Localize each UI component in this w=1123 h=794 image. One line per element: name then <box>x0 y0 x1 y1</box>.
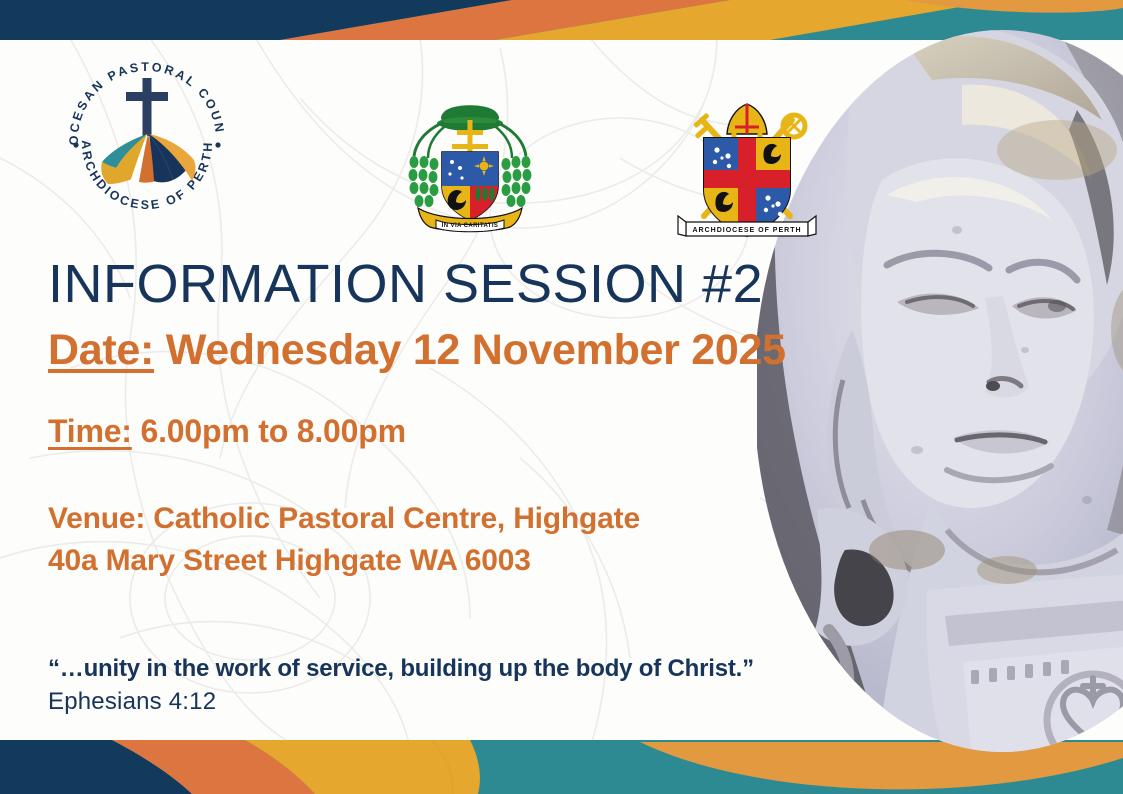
venue-block: Venue: Catholic Pastoral Centre, Highgat… <box>48 498 788 583</box>
date-value: Wednesday 12 November 2025 <box>166 326 786 374</box>
date-label: Date: <box>48 326 154 374</box>
archdiocese-of-perth-coat-of-arms: ARCHDIOCESE OF PERTH <box>672 94 822 244</box>
bottom-decorative-band <box>0 740 1123 794</box>
time-line: Time: 6.00pm to 8.00pm <box>48 413 788 450</box>
logo-row: DIOCESAN PASTORAL COUNCIL ARCHDIOCESE OF… <box>0 42 850 212</box>
venue-line-1: Venue: Catholic Pastoral Centre, Highgat… <box>48 498 788 541</box>
page-title: INFORMATION SESSION #2 <box>48 255 788 313</box>
venue-line-2: 40a Mary Street Highgate WA 6003 <box>48 540 788 583</box>
scripture-quote: “…unity in the work of service, building… <box>48 655 788 683</box>
date-line: Date: Wednesday 12 November 2025 <box>48 327 788 374</box>
top-decorative-band <box>0 0 1123 40</box>
scripture-reference: Ephesians 4:12 <box>48 688 788 716</box>
flyer-content: INFORMATION SESSION #2 Date: Wednesday 1… <box>48 255 788 716</box>
archdiocese-banner-text: ARCHDIOCESE OF PERTH <box>692 227 801 234</box>
archbishop-coat-of-arms: IN VIA CARITATIS <box>400 90 540 238</box>
time-label: Time: <box>48 413 132 449</box>
archbishop-motto-text: IN VIA CARITATIS <box>442 223 499 229</box>
diocesan-pastoral-council-logo: DIOCESAN PASTORAL COUNCIL ARCHDIOCESE OF… <box>60 52 235 212</box>
flyer-canvas: DIOCESAN PASTORAL COUNCIL ARCHDIOCESE OF… <box>0 0 1123 794</box>
time-value: 6.00pm to 8.00pm <box>140 413 405 449</box>
